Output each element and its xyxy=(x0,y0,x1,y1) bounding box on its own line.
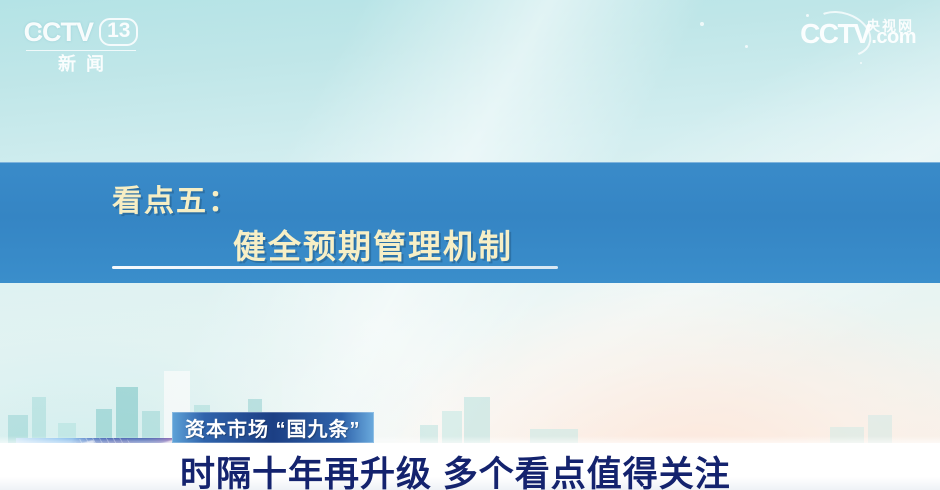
building-shape xyxy=(868,415,892,445)
cctv-wordmark: CCTV xyxy=(24,19,94,46)
building-shape xyxy=(464,397,490,445)
building-shape xyxy=(442,411,462,445)
channel-bug-divider xyxy=(26,50,136,51)
feature-banner: 看点五： 健全预期管理机制 xyxy=(0,162,940,283)
network-bug-chinese: 央视网 xyxy=(866,16,914,36)
headline-text: 时隔十年再升级 多个看点值得关注 xyxy=(180,446,731,490)
sparkle-icon xyxy=(806,14,809,17)
lower-third-headline-band: 时隔十年再升级 多个看点值得关注 xyxy=(0,443,940,490)
sparkle-icon xyxy=(745,45,748,48)
channel-bug-subtitle: 新闻 xyxy=(22,55,140,75)
banner-underline xyxy=(112,266,558,269)
kicker-text: 资本市场 “国九条” xyxy=(185,413,361,442)
cctv13-channel-bug: CCTV 13 新闻 xyxy=(22,18,140,75)
broadcast-frame: CCTV 13 新闻 央视网 CCTV .com 看点五： 健全预期管理机制 xyxy=(0,0,940,490)
channel-number: 13 xyxy=(99,18,138,46)
sparkle-icon xyxy=(700,22,704,26)
building-shape xyxy=(116,387,138,445)
banner-line-one: 看点五： xyxy=(112,176,240,220)
lower-third-kicker: 资本市场 “国九条” xyxy=(172,412,374,443)
sparkle-icon xyxy=(860,62,862,64)
cctvcom-network-bug: 央视网 CCTV .com xyxy=(800,20,916,48)
building-shape xyxy=(420,425,438,445)
banner-line-two: 健全预期管理机制 xyxy=(233,220,513,268)
cityscape-silhouette-right xyxy=(420,325,940,445)
channel-bug-row: CCTV 13 xyxy=(22,18,140,46)
